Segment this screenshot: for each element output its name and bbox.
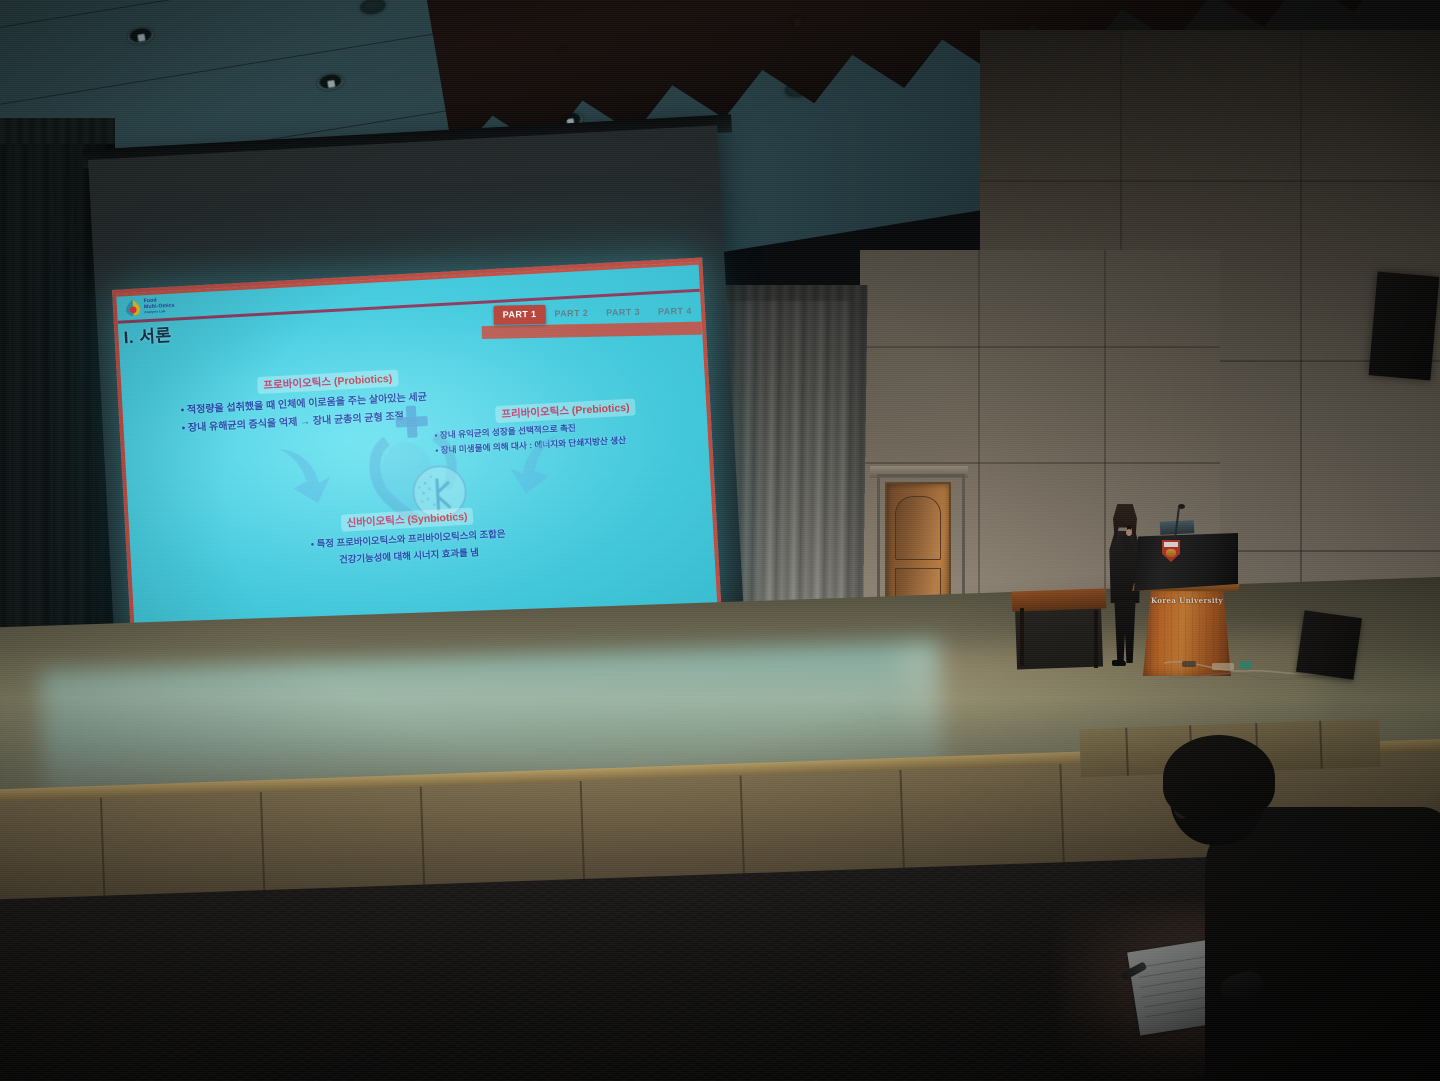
lecture-hall-photo: Food Multi-Omics Analysis Lab. I. 서론 PAR…: [0, 0, 1440, 1081]
tab-part-1[interactable]: PART 1: [494, 305, 546, 325]
logo-line-3: Analysis Lab.: [144, 310, 175, 315]
audience-member-body: [1205, 807, 1440, 1081]
probiotics-heading-en: (Probiotics): [334, 373, 393, 388]
floor-loudspeaker: [1296, 610, 1362, 679]
wall-mounted-loudspeaker: [1369, 271, 1440, 380]
presenter-legs: [1113, 601, 1137, 663]
ceiling-downlight: [127, 26, 155, 45]
synbiotics-heading-ko: 신바이오틱스: [346, 514, 405, 529]
prebiotics-heading-ko: 프리바이오틱스: [501, 405, 569, 421]
side-table: [1012, 588, 1107, 611]
slide-title: I. 서론: [123, 321, 172, 349]
side-table-body: [1015, 605, 1103, 670]
ceiling-downlight: [316, 73, 344, 92]
tab-part-2[interactable]: PART 2: [545, 304, 597, 324]
audience-member: [1125, 735, 1440, 1081]
podium-top: [1134, 533, 1238, 591]
audience-member-hair: [1163, 735, 1275, 821]
synbiotics-heading-en: (Synbiotics): [407, 511, 468, 526]
presenter-shoe: [1112, 660, 1126, 666]
tab-part-4[interactable]: PART 4: [649, 302, 701, 322]
ceiling-downlight-off: [359, 0, 387, 16]
probiotics-heading-ko: 프로바이오틱스: [263, 376, 331, 392]
side-table-leg: [1020, 608, 1024, 666]
side-table-leg: [1094, 610, 1098, 668]
projected-slide: Food Multi-Omics Analysis Lab. I. 서론 PAR…: [112, 258, 722, 648]
podium-university-label: Korea University: [1143, 596, 1231, 605]
arrow-down-right-icon: [505, 431, 568, 496]
prebiotics-heading-en: (Prebiotics): [572, 402, 630, 417]
gooseneck-mic-head: [1178, 504, 1185, 509]
presenter-hand: [1126, 529, 1132, 536]
arrow-down-left-icon: [273, 442, 336, 507]
lab-logo: Food Multi-Omics Analysis Lab.: [124, 293, 199, 318]
food-multi-omics-logo-mark: [125, 298, 142, 316]
tab-part-3[interactable]: PART 3: [597, 303, 649, 323]
